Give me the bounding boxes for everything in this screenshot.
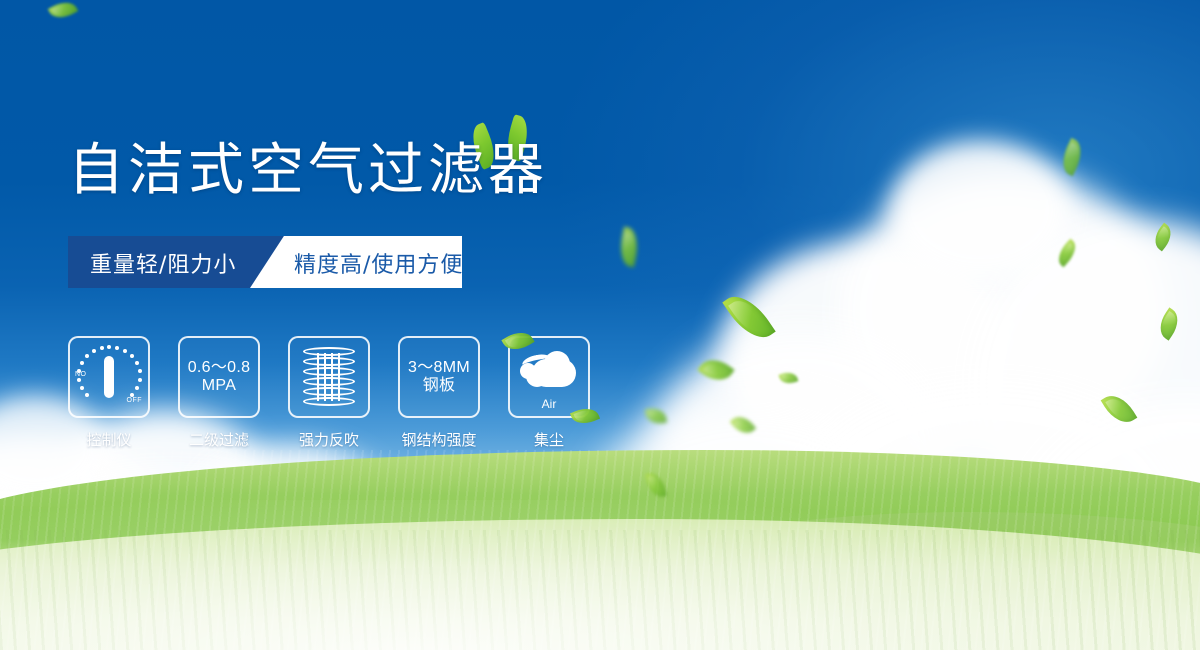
feature-label: 二级过滤: [189, 429, 249, 450]
subtitle-right-panel: 精度高/使用方便: [250, 236, 462, 288]
feature-label: 集尘: [534, 429, 564, 450]
steel-plate-text-icon: 3～8MM 钢板: [408, 359, 470, 396]
subtitle-left-text: 重量轻/阻力小: [90, 247, 236, 279]
feature-icon-box: [288, 336, 370, 418]
feature-label: 强力反吹: [299, 429, 359, 450]
feature-item-steel[interactable]: 3～8MM 钢板 钢结构强度: [398, 336, 480, 450]
dial-off-label: OFF: [127, 397, 143, 404]
air-label: Air: [518, 397, 580, 411]
dial-on-label: NO: [75, 371, 87, 378]
product-banner: 自洁式空气过滤器 重量轻/阻力小 精度高/使用方便: [0, 0, 1200, 650]
pressure-line1: 0.6～0.8: [188, 359, 251, 376]
subtitle-left-panel: 重量轻/阻力小: [68, 236, 288, 288]
feature-item-control[interactable]: NO OFF 控制仪: [68, 336, 150, 450]
steel-line1: 3～8MM: [408, 359, 470, 376]
feature-label: 钢结构强度: [401, 429, 476, 450]
control-dial-icon: NO OFF: [76, 344, 142, 410]
filter-coil-icon: [303, 347, 355, 407]
page-title: 自洁式空气过滤器: [68, 143, 548, 199]
feature-label: 控制仪: [86, 429, 131, 450]
feature-icon-box: 3～8MM 钢板: [398, 336, 480, 418]
subtitle-bar: 重量轻/阻力小 精度高/使用方便: [68, 236, 462, 288]
air-cloud-icon: Air: [518, 349, 580, 405]
feature-item-pressure[interactable]: 0.6～0.8 MPA 二级过滤: [178, 336, 260, 450]
pressure-line2: MPA: [188, 377, 251, 395]
feature-item-blowback[interactable]: 强力反吹: [288, 336, 370, 450]
feature-icon-box: NO OFF: [68, 336, 150, 418]
feature-list: NO OFF 控制仪 0.6～0.8 MPA 二级过滤: [68, 336, 590, 450]
steel-line2: 钢板: [408, 377, 470, 395]
pressure-text-icon: 0.6～0.8 MPA: [188, 359, 251, 396]
field-path-highlight: [0, 500, 1200, 650]
feature-icon-box: Air: [508, 336, 590, 418]
feature-item-dust[interactable]: Air 集尘: [508, 336, 590, 450]
feature-icon-box: 0.6～0.8 MPA: [178, 336, 260, 418]
grass-field: [0, 450, 1200, 650]
subtitle-right-text: 精度高/使用方便: [294, 247, 463, 279]
